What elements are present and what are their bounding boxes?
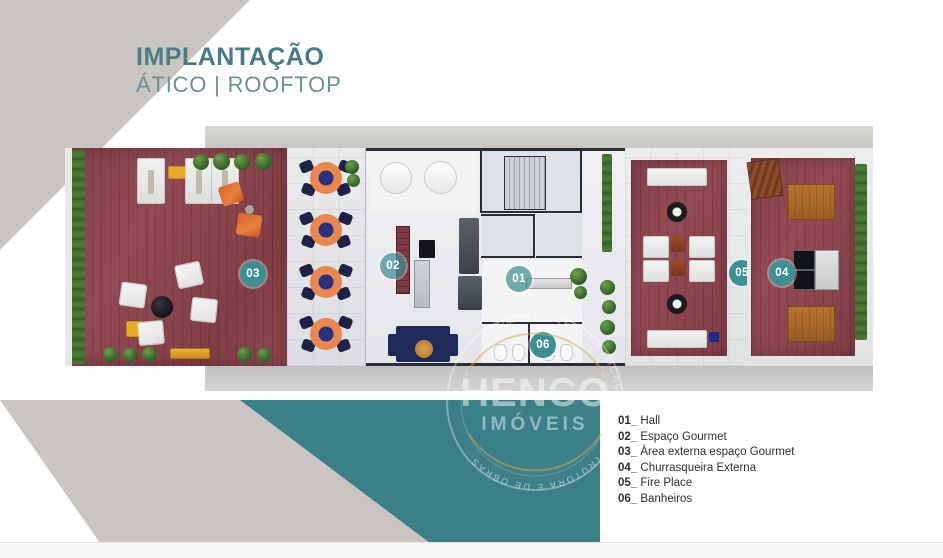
dining-table-wood: [787, 184, 835, 220]
wall-wc: [482, 322, 582, 324]
bottom-band-shape: [0, 385, 600, 545]
wall-elevator: [481, 214, 535, 216]
sofa-navy: [446, 334, 458, 356]
slide-page: IMPLANTAÇÃO ÁTICO | ROOFTOP: [0, 0, 943, 558]
building-parapet-top: [205, 126, 873, 148]
wall-stair-bottom: [480, 211, 582, 213]
wall-stair-right: [580, 151, 582, 213]
shrub: [103, 347, 118, 362]
title-main: IMPLANTAÇÃO: [136, 44, 342, 71]
armchair-white: [118, 281, 147, 308]
shrub: [255, 153, 272, 170]
appliance-dark: [419, 240, 435, 258]
sofa-navy: [388, 334, 400, 356]
interior-core: 02 01 06: [365, 148, 626, 366]
area-badge-02[interactable]: 02: [380, 253, 406, 279]
armchair-white: [174, 261, 204, 290]
wall-elevator: [481, 256, 535, 258]
legend-label: Churrasqueira Externa: [640, 462, 756, 474]
shrub: [347, 174, 360, 187]
floorplan-body: 03: [65, 148, 873, 366]
legend-number: 03_: [618, 446, 637, 458]
dining-table-wood: [787, 306, 835, 342]
legend-label: Área externa espaço Gourmet: [640, 446, 794, 458]
shrub: [345, 160, 359, 174]
side-table-wood: [671, 236, 685, 252]
kitchen-island: [458, 276, 482, 310]
wc-fixture: [560, 344, 573, 361]
floorplan-render: 03: [65, 126, 873, 391]
deck-04: [751, 158, 855, 356]
legend-number: 06_: [618, 493, 637, 505]
sun-lounger: [137, 158, 165, 204]
building-parapet-bottom: [205, 366, 873, 391]
fire-pit: [667, 294, 687, 314]
area-04-bbq: 04: [747, 148, 873, 366]
footer-strip: [0, 543, 943, 558]
legend-label: Banheiros: [640, 493, 692, 505]
accent-stool: [709, 332, 719, 342]
legend-label: Espaço Gourmet: [640, 431, 726, 443]
shrub: [142, 347, 157, 362]
deck-05: [631, 160, 727, 356]
pergola-slats: [747, 158, 784, 200]
legend-item: 01_ Hall: [618, 414, 794, 430]
console-table: [526, 278, 572, 289]
coffee-table: [151, 296, 173, 318]
walkway-left: [65, 148, 72, 366]
armchair-white: [137, 320, 165, 346]
shrub: [123, 348, 137, 362]
shrub: [193, 154, 209, 170]
kitchen-counter: [414, 260, 430, 308]
armchair-orange: [236, 212, 263, 237]
dining-set: [300, 208, 352, 254]
sofa-white: [647, 330, 707, 348]
wall-service: [536, 256, 582, 258]
round-table: [310, 162, 342, 194]
shrub: [237, 347, 252, 362]
hedge-interior-right: [602, 154, 612, 252]
round-table: [310, 318, 342, 350]
room-hall: [482, 260, 582, 322]
wall-bottom: [366, 363, 626, 366]
wall-elevator: [533, 214, 535, 258]
hedge-right: [855, 164, 867, 340]
armchair-white: [689, 260, 715, 282]
round-table: [310, 214, 342, 246]
page-title: IMPLANTAÇÃO ÁTICO | ROOFTOP: [136, 44, 342, 97]
legend: 01_ Hall 02_ Espaço Gourmet 03_ Área ext…: [618, 414, 794, 508]
bbq-grill: [793, 270, 815, 290]
outdoor-dining-strip: [287, 148, 365, 366]
shrub: [600, 320, 615, 335]
round-seat: [424, 161, 457, 194]
side-table-wood: [671, 260, 685, 276]
legend-number: 04_: [618, 462, 637, 474]
shrub: [213, 153, 230, 170]
bbq-grill: [793, 250, 815, 270]
armchair-white: [643, 260, 669, 282]
stairs: [504, 156, 546, 210]
legend-label: Hall: [640, 415, 660, 427]
planter: [570, 268, 587, 285]
shrub: [234, 154, 250, 170]
title-subtitle: ÁTICO | ROOFTOP: [136, 72, 342, 97]
legend-item: 04_ Churrasqueira Externa: [618, 461, 794, 477]
fire-pit: [667, 202, 687, 222]
legend-number: 05_: [618, 477, 637, 489]
wc-fixture: [512, 344, 525, 361]
area-badge-04[interactable]: 04: [769, 260, 795, 286]
bench-yellow: [170, 348, 210, 359]
area-03-terrace: 03: [65, 148, 287, 366]
dining-set: [300, 156, 352, 202]
legend-item: 03_ Área externa espaço Gourmet: [618, 445, 794, 461]
sofa-white: [647, 168, 707, 186]
area-badge-01[interactable]: 01: [506, 266, 532, 292]
armchair-white: [190, 297, 218, 324]
side-table-yellow: [168, 166, 186, 179]
wall-stair-left: [480, 151, 482, 213]
legend-number: 01_: [618, 415, 637, 427]
kitchen-island: [459, 218, 479, 274]
legend-number: 02_: [618, 431, 637, 443]
service-room: [536, 214, 582, 258]
rug-round: [415, 340, 433, 358]
elevator-shaft: [482, 214, 534, 258]
legend-label: Fire Place: [640, 477, 692, 489]
round-table: [310, 266, 342, 298]
dining-set: [300, 312, 352, 358]
shrub: [602, 340, 616, 354]
area-badge-06[interactable]: 06: [530, 332, 556, 358]
area-05-fireplace: 05: [625, 148, 747, 366]
legend-item: 05_ Fire Place: [618, 476, 794, 492]
area-badge-03[interactable]: 03: [240, 261, 266, 287]
legend-item: 02_ Espaço Gourmet: [618, 430, 794, 446]
wc-fixture: [494, 344, 507, 361]
armchair-white: [689, 236, 715, 258]
shrub: [600, 280, 615, 295]
bbq-counter: [815, 250, 839, 290]
armchair-white: [643, 236, 669, 258]
dining-set: [300, 260, 352, 306]
shrub: [602, 300, 616, 314]
legend-item: 06_ Banheiros: [618, 492, 794, 508]
round-seat: [380, 162, 412, 194]
planter: [574, 286, 587, 299]
hedge-left: [72, 150, 85, 364]
shrub: [257, 348, 271, 362]
